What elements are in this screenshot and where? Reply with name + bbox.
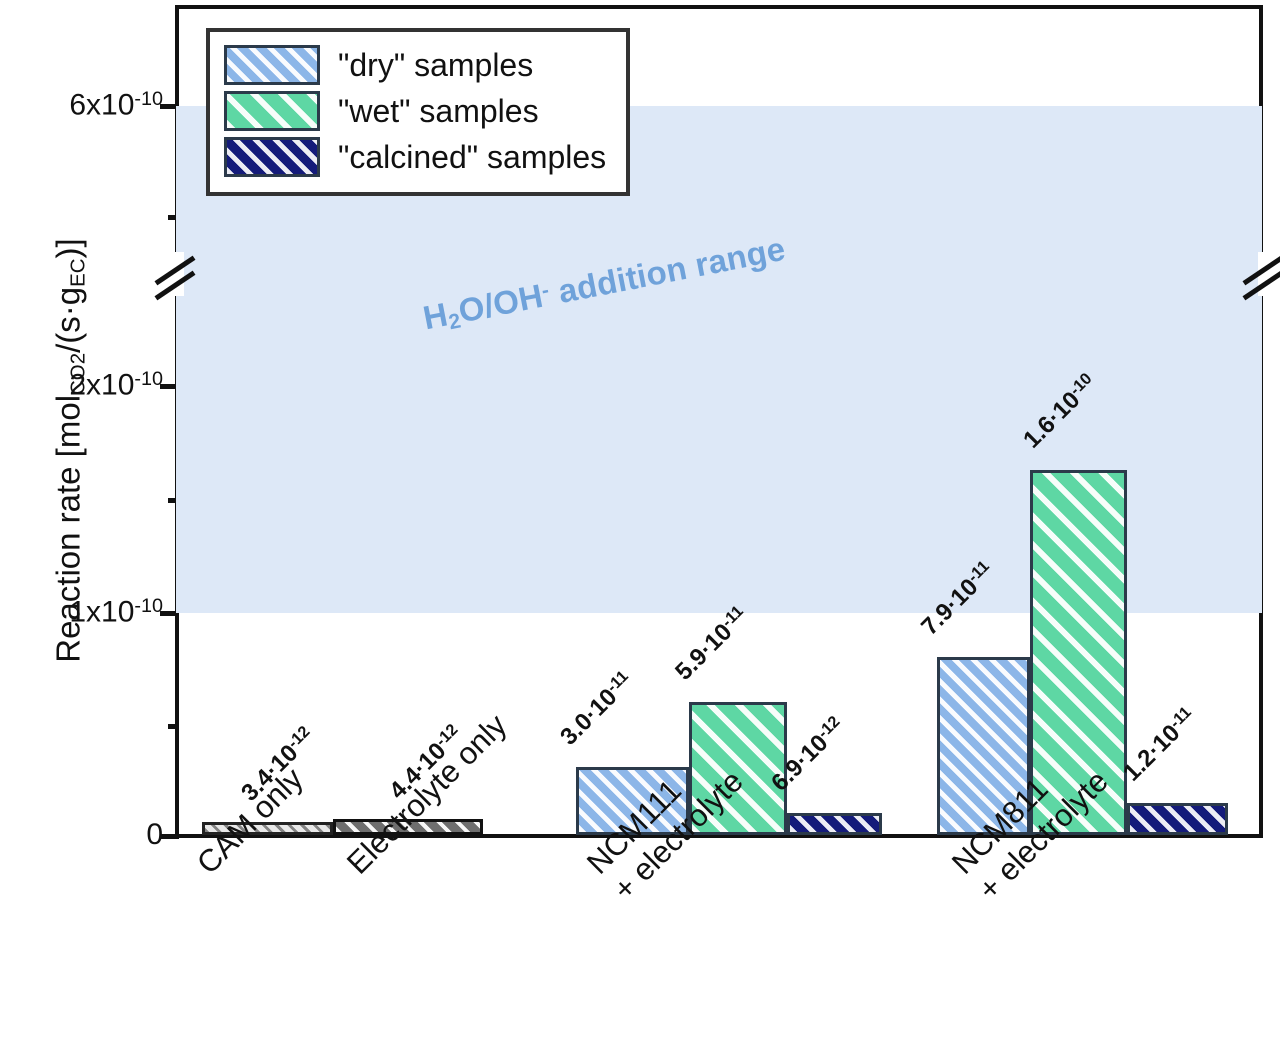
legend-swatch-calcined	[224, 137, 320, 177]
legend-item-calcined[interactable]: "calcined" samples	[224, 134, 606, 180]
bar-value-ncm111-wet: 5.9·10-11	[670, 602, 754, 686]
legend-swatch-wet	[224, 91, 320, 131]
bar-value-ncm811-wet: 1.6·10-10	[1018, 369, 1103, 454]
bar-value-ncm111-dry: 3.0·10-11	[555, 667, 639, 751]
legend-swatch-dry	[224, 45, 320, 85]
legend-label-calcined: "calcined" samples	[338, 139, 606, 176]
legend-item-dry[interactable]: "dry" samples	[224, 42, 606, 88]
legend-label-dry: "dry" samples	[338, 47, 533, 84]
bar-ncm811-calcined[interactable]	[1127, 803, 1228, 835]
bar-value-ncm811-calcined: 1.2·10-11	[1118, 703, 1202, 787]
chart-figure: Reaction rate [molCO2/(s·gEC)] 6x10-10 2…	[0, 0, 1280, 1062]
bar-value-ncm811-dry: 7.9·10-11	[916, 557, 1000, 641]
legend: "dry" samples "wet" samples "calcined" s…	[206, 28, 630, 196]
bar-ncm111-calcined[interactable]	[787, 813, 882, 835]
legend-label-wet: "wet" samples	[338, 93, 539, 130]
legend-item-wet[interactable]: "wet" samples	[224, 88, 606, 134]
bars-container: 3.4·10-12 4.4·10-12 3.0·10-11 5.9·10-11 …	[0, 0, 1280, 835]
